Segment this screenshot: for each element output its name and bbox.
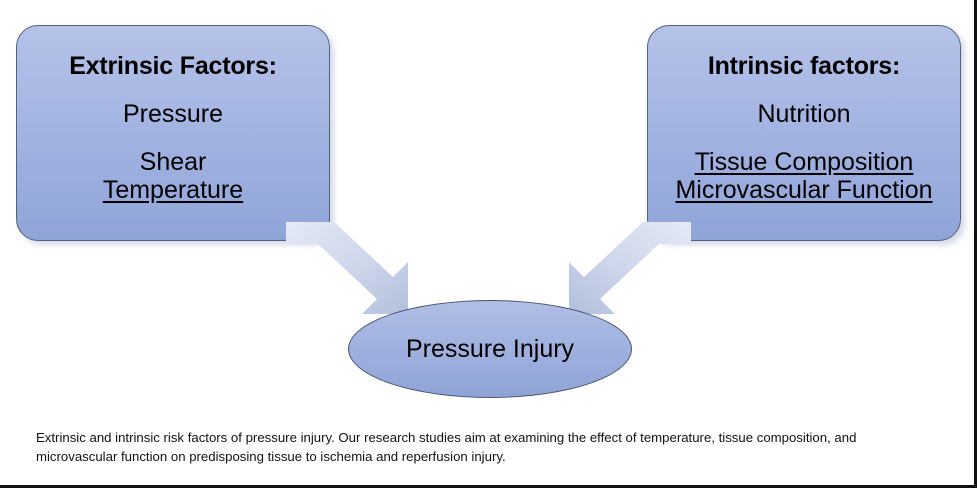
bottom-rule	[0, 485, 977, 488]
factor-item-temperature: Temperature	[103, 176, 243, 205]
box-title-extrinsic: Extrinsic Factors:	[69, 52, 277, 81]
box-title-intrinsic: Intrinsic factors:	[708, 52, 900, 81]
outcome-ellipse-pressure-injury: Pressure Injury	[348, 300, 632, 398]
factor-item-pressure: Pressure	[123, 100, 223, 129]
factor-item-microvascular-function: Microvascular Function	[675, 176, 932, 205]
figure-caption: Extrinsic and intrinsic risk factors of …	[36, 428, 936, 466]
factor-box-intrinsic: Intrinsic factors: Nutrition Tissue Comp…	[647, 25, 961, 241]
factor-box-extrinsic: Extrinsic Factors: Pressure Shear Temper…	[16, 25, 330, 241]
factor-item-nutrition: Nutrition	[757, 100, 850, 129]
factor-item-tissue-composition: Tissue Composition	[695, 148, 914, 177]
outcome-label: Pressure Injury	[406, 337, 574, 362]
diagram-canvas: Extrinsic Factors: Pressure Shear Temper…	[0, 0, 977, 491]
factor-item-shear: Shear	[140, 148, 207, 177]
